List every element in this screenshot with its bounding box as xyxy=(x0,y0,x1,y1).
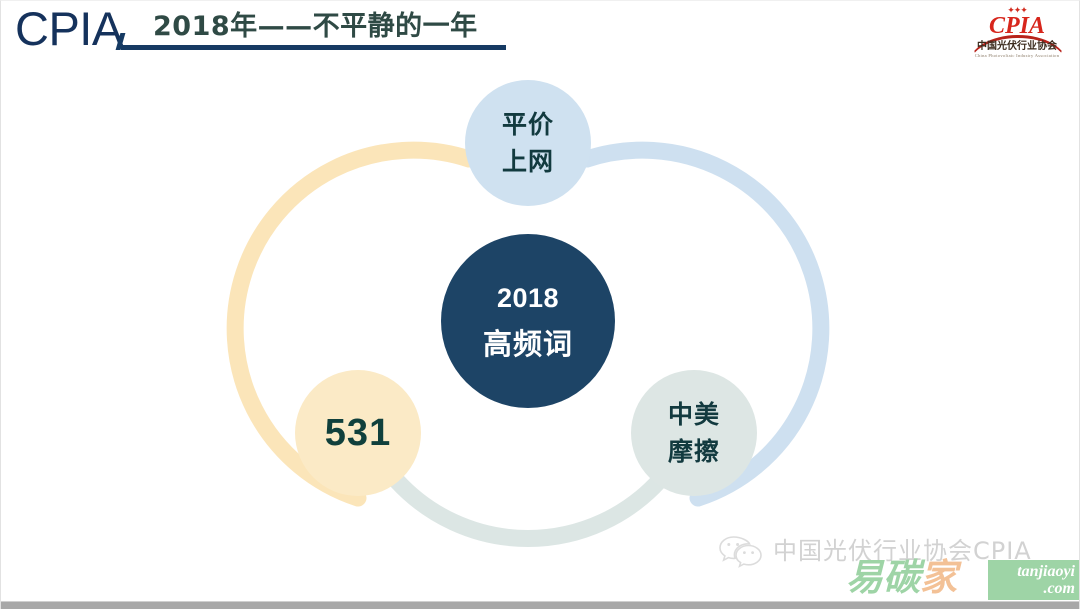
node-center-year: 2018 xyxy=(497,282,559,314)
node-left-line-1: 531 xyxy=(325,412,391,454)
concept-ring-diagram: 平价 上网 531 中美 摩擦 2018 高频词 xyxy=(1,1,1080,609)
node-center-gaopinci[interactable]: 2018 高频词 xyxy=(441,234,615,408)
node-right-line-2: 摩擦 xyxy=(668,433,720,470)
node-zhongmei-mocha[interactable]: 中美 摩擦 xyxy=(631,370,757,496)
watermark-chinese-part2: 家 xyxy=(920,556,957,599)
node-pingjia-shangwang[interactable]: 平价 上网 xyxy=(465,80,591,206)
arc-bottom xyxy=(397,481,659,538)
site-watermark: 易碳家 tanjiaoyi .com xyxy=(846,557,1080,603)
node-center-label: 高频词 xyxy=(483,327,573,361)
watermark-url-line2: .com xyxy=(988,580,1075,597)
node-top-line-1: 平价 xyxy=(502,106,554,143)
watermark-url-line1: tanjiaoyi xyxy=(1017,563,1075,580)
watermark-chinese: 易碳家 xyxy=(846,557,957,599)
wechat-icon xyxy=(717,534,763,568)
watermark-url-badge: tanjiaoyi .com xyxy=(988,560,1080,600)
watermark-chinese-part1: 易碳 xyxy=(846,556,920,599)
slide-canvas: CPIA 2018年——不平静的一年 ✦✦✦ CPIA 中国光伏行业协会 Chi… xyxy=(0,0,1080,609)
bottom-scroll-bar[interactable] xyxy=(1,601,1080,609)
node-top-line-2: 上网 xyxy=(502,143,554,180)
node-531[interactable]: 531 xyxy=(295,370,421,496)
node-right-line-1: 中美 xyxy=(668,396,720,433)
